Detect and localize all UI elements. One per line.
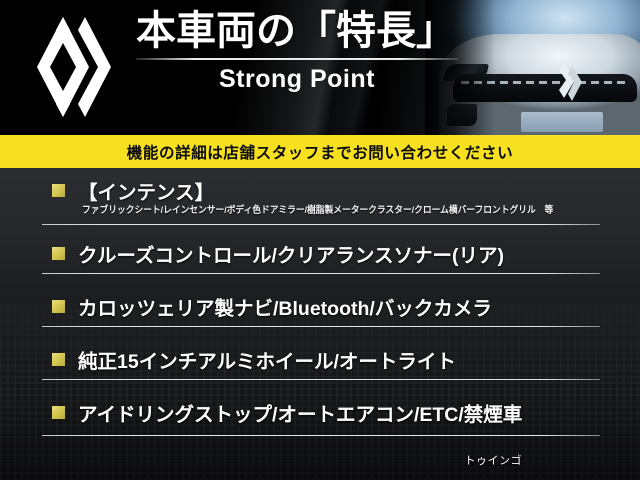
- feature-divider-3: [42, 326, 600, 327]
- yellow-square-bullet-icon: [52, 247, 65, 260]
- yellow-square-bullet-icon: [52, 353, 65, 366]
- feature-label-1: 【インテンス】: [78, 176, 214, 205]
- feature-divider-2: [42, 273, 600, 274]
- title-divider: [136, 58, 458, 60]
- page-title-jp: 本車両の「特長」: [136, 8, 466, 54]
- feature-label-2: クルーズコントロール/クリアランスソナー(リア): [78, 239, 504, 268]
- header-title-block: 本車両の「特長」 Strong Point: [136, 8, 466, 94]
- feature-list-section: 【インテンス】 ファブリックシート/レインセンサー/ボディ色ドアミラー/樹脂製メ…: [0, 168, 640, 480]
- yellow-square-bullet-icon: [52, 300, 65, 313]
- contact-staff-text: 機能の詳細は店舗スタッフまでお問い合わせください: [127, 141, 513, 163]
- feature-label-4: 純正15インチアルミホイール/オートライト: [78, 345, 456, 374]
- feature-sublabel-1: ファブリックシート/レインセンサー/ボディ色ドアミラー/樹脂製メータークラスター…: [82, 202, 553, 216]
- feature-divider-1: [42, 224, 600, 225]
- renault-diamond-grille-icon: [553, 62, 583, 102]
- yellow-square-bullet-icon: [52, 184, 65, 197]
- feature-divider-5: [42, 435, 600, 436]
- feature-label-5: アイドリングストップ/オートエアコン/ETC/禁煙車: [78, 398, 522, 427]
- renault-diamond-logo-icon: [32, 14, 116, 120]
- contact-staff-banner: 機能の詳細は店舗スタッフまでお問い合わせください: [0, 135, 640, 168]
- feature-divider-4: [42, 379, 600, 380]
- model-name-label: トゥインゴ: [465, 452, 523, 468]
- page-subtitle-en: Strong Point: [136, 65, 458, 94]
- strong-point-feature-slide: 本車両の「特長」 Strong Point 機能の詳細は店舗スタッフまでお問い合…: [0, 0, 640, 480]
- license-plate: [521, 112, 603, 132]
- feature-label-3: カロッツェリア製ナビ/Bluetooth/バックカメラ: [78, 292, 492, 321]
- yellow-square-bullet-icon: [52, 406, 65, 419]
- header-banner: 本車両の「特長」 Strong Point: [0, 0, 640, 135]
